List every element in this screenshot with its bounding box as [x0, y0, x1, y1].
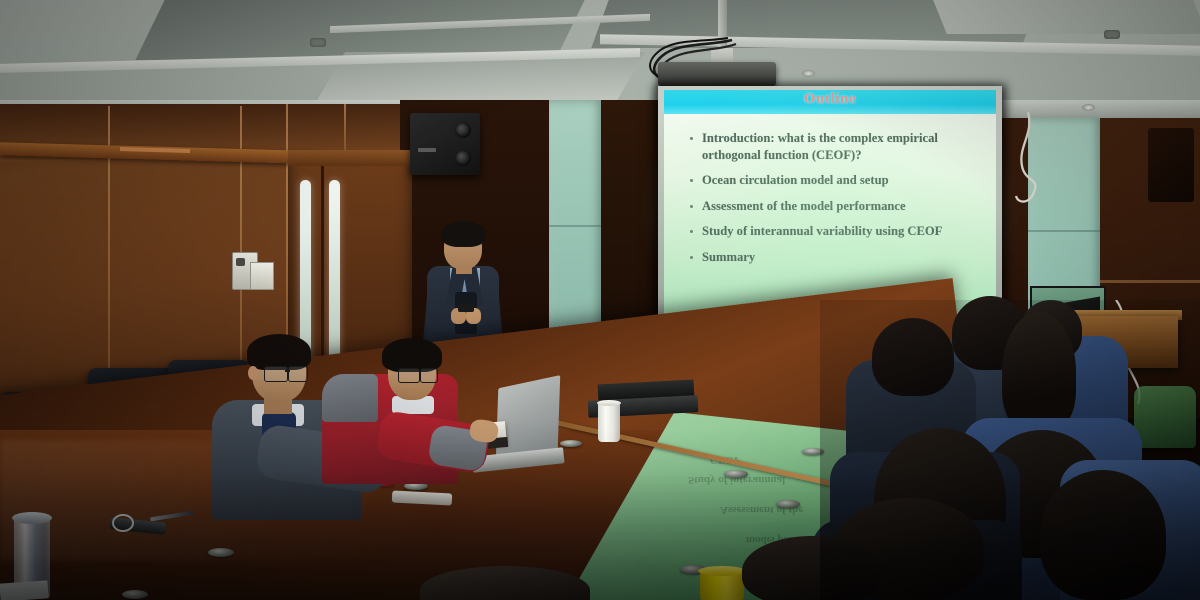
wall-seam	[1100, 280, 1200, 283]
speaker-cone-icon	[455, 122, 471, 138]
slide-bullet-text: Introduction: what is the complex empiri…	[702, 130, 982, 163]
presenter-hair	[441, 221, 486, 247]
ceiling-vent	[310, 38, 326, 47]
wall-panel-lens-icon	[236, 258, 245, 266]
conference-room-photo: Outline Introduction: what is the comple…	[0, 0, 1200, 600]
bullet-icon	[690, 137, 693, 140]
table-grommet	[724, 470, 748, 478]
slide-bullet-text: Summary	[702, 249, 755, 266]
slide-bullet-list: Introduction: what is the complex empiri…	[690, 130, 982, 275]
attendee-suit-hair	[247, 334, 311, 370]
audience-head	[1002, 312, 1076, 432]
eyeglasses-icon	[420, 368, 438, 383]
list-item: Summary	[690, 249, 982, 266]
yellow-cup-rim	[698, 566, 746, 576]
attendee-red-shoulder	[322, 374, 378, 422]
speaker-cone-icon	[455, 150, 471, 166]
microphone-ring-icon	[112, 514, 134, 532]
attendee-red-hair	[382, 338, 442, 372]
napkin	[0, 580, 49, 600]
table-grommet	[802, 448, 824, 455]
slide-bullet-text: Assessment of the model performance	[702, 198, 906, 215]
table-grommet	[560, 440, 582, 447]
slide-bullet-text: Study of interannual variability using C…	[702, 223, 942, 240]
downlight-icon	[802, 70, 815, 77]
audience-head	[1040, 470, 1166, 600]
list-item: Assessment of the model performance	[690, 198, 982, 215]
audience-head	[872, 318, 954, 396]
door-glass-panel	[300, 180, 311, 360]
eyeglasses-icon	[264, 366, 288, 382]
eyeglasses-bridge	[285, 370, 290, 372]
downlight-icon	[1082, 104, 1095, 111]
door-glass-panel	[329, 180, 340, 360]
presentation-clicker[interactable]	[458, 303, 474, 312]
attendee-suit-ear	[248, 366, 258, 380]
eyeglasses-icon	[398, 368, 420, 383]
list-item: Ocean circulation model and setup	[690, 172, 982, 189]
bullet-icon	[690, 179, 693, 182]
bullet-icon	[690, 205, 693, 208]
ceiling-beam	[933, 0, 1200, 34]
ceiling-cable	[1000, 112, 1080, 222]
wall-switch-plate[interactable]	[250, 262, 274, 290]
bullet-icon	[690, 230, 693, 233]
table-grommet	[122, 590, 148, 599]
wall-speaker	[410, 113, 480, 175]
list-item: Study of interannual variability using C…	[690, 223, 982, 240]
ceiling-projector	[658, 62, 776, 86]
table-grommet	[208, 548, 234, 557]
paper-cup-rim	[597, 400, 621, 406]
audience-head	[742, 536, 882, 600]
wall-speaker	[1148, 128, 1194, 202]
list-item: Introduction: what is the complex empiri…	[690, 130, 982, 163]
table-grommet	[776, 500, 800, 508]
glass-rim	[12, 512, 52, 524]
door-header	[288, 150, 412, 166]
speaker-badge	[418, 148, 436, 152]
eyeglasses-icon	[288, 366, 308, 382]
slide-bullet-text: Ocean circulation model and setup	[702, 172, 889, 189]
ceiling-vent	[1104, 30, 1120, 39]
bullet-icon	[690, 256, 693, 259]
chair[interactable]	[1134, 386, 1196, 448]
paper-cup[interactable]	[598, 402, 620, 442]
slide-title: Outline	[664, 91, 996, 108]
